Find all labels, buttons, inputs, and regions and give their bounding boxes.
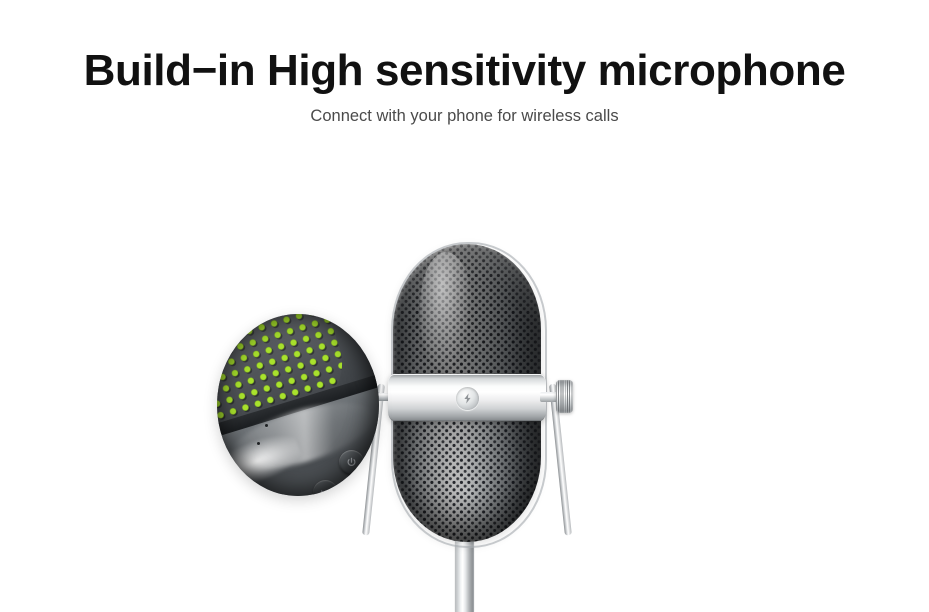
product-banner: Build−in High sensitivity microphone Con…	[0, 0, 929, 612]
magnified-detail-circle	[217, 314, 379, 496]
microphone-illustration	[0, 0, 929, 612]
microphone-pinhole-icon	[257, 442, 260, 445]
lightning-bolt-icon	[456, 387, 479, 410]
power-button[interactable]	[339, 450, 364, 475]
microphone-pinhole-icon	[265, 424, 268, 427]
thumbscrew-knob	[556, 380, 573, 413]
